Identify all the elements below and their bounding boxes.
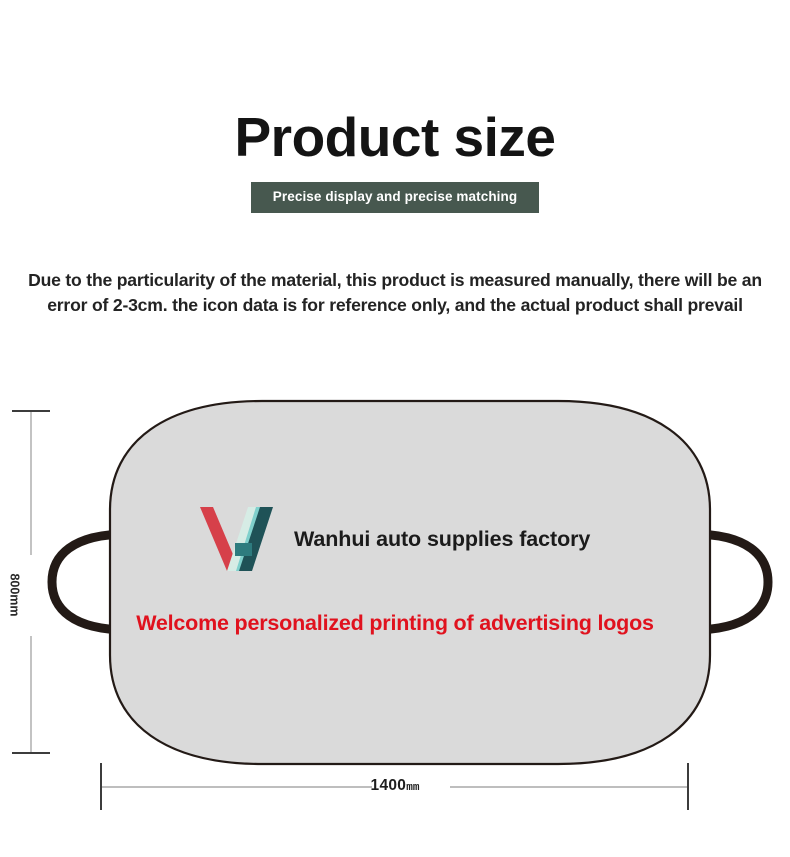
product-diagram bbox=[0, 0, 790, 857]
brand-name: Wanhui auto supplies factory bbox=[294, 527, 590, 552]
brand-row: Wanhui auto supplies factory bbox=[196, 503, 590, 575]
wanhui-logo-icon bbox=[196, 503, 280, 575]
product-body-shape bbox=[110, 401, 710, 764]
product-size-page: Product size Precise display and precise… bbox=[0, 0, 790, 857]
horizontal-dimension-line bbox=[101, 763, 688, 810]
promo-text: Welcome personalized printing of adverti… bbox=[0, 611, 790, 636]
